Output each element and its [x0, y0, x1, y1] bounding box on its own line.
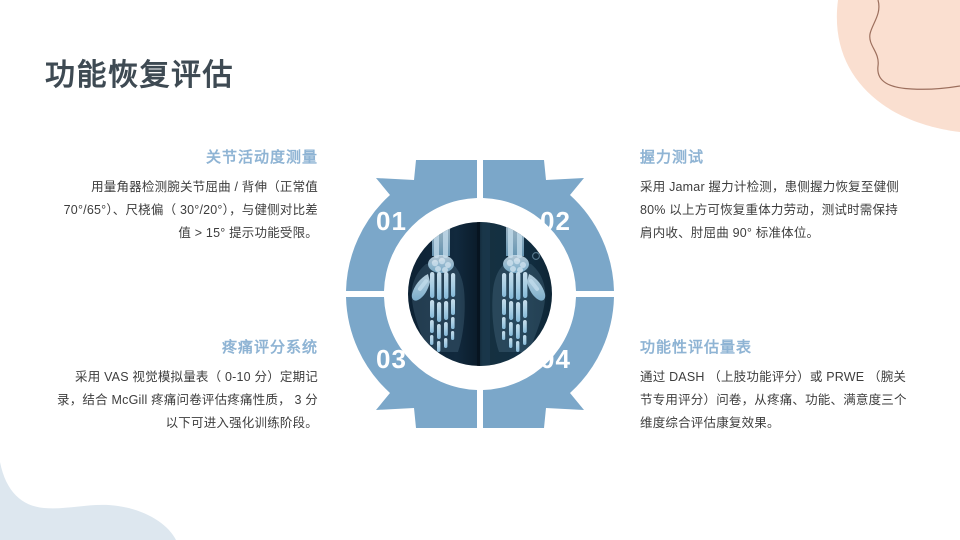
section-block-03: 疼痛评分系统 采用 VAS 视觉模拟量表（ 0-10 分）定期记录，结合 McG…	[55, 338, 318, 435]
divider-top	[478, 160, 482, 218]
section-title-01: 关节活动度测量	[60, 148, 318, 168]
divider-bottom	[478, 370, 482, 428]
segment-number-04: 04	[540, 346, 571, 372]
section-title-03: 疼痛评分系统	[55, 338, 318, 358]
divider-right	[568, 292, 614, 296]
hand-xray-image	[408, 222, 552, 366]
page-title: 功能恢复评估	[45, 58, 234, 94]
section-block-04: 功能性评估量表 通过 DASH （上肢功能评分）或 PRWE （腕关节专用评分）…	[640, 338, 915, 435]
section-title-04: 功能性评估量表	[640, 338, 915, 358]
cycle-diagram: 01 02 03 04	[346, 160, 614, 428]
segment-number-02: 02	[540, 208, 571, 234]
decor-blue-wave	[0, 450, 190, 540]
section-title-02: 握力测试	[640, 148, 908, 168]
decor-peach-blob	[820, 0, 960, 132]
segment-number-01: 01	[376, 208, 407, 234]
segment-number-03: 03	[376, 346, 407, 372]
divider-left	[346, 292, 392, 296]
slide-canvas: 功能恢复评估 关节活动度测量 用量角器检测腕关节屈曲 / 背伸（正常值 70°/…	[0, 0, 960, 540]
section-block-01: 关节活动度测量 用量角器检测腕关节屈曲 / 背伸（正常值 70°/65°）、尺桡…	[60, 148, 318, 245]
section-body-03: 采用 VAS 视觉模拟量表（ 0-10 分）定期记录，结合 McGill 疼痛问…	[55, 366, 318, 435]
section-block-02: 握力测试 采用 Jamar 握力计检测，患侧握力恢复至健侧 80% 以上方可恢复…	[640, 148, 908, 245]
section-body-04: 通过 DASH （上肢功能评分）或 PRWE （腕关节专用评分）问卷，从疼痛、功…	[640, 366, 915, 435]
section-body-01: 用量角器检测腕关节屈曲 / 背伸（正常值 70°/65°）、尺桡偏（ 30°/2…	[60, 176, 318, 245]
section-body-02: 采用 Jamar 握力计检测，患侧握力恢复至健侧 80% 以上方可恢复重体力劳动…	[640, 176, 908, 245]
